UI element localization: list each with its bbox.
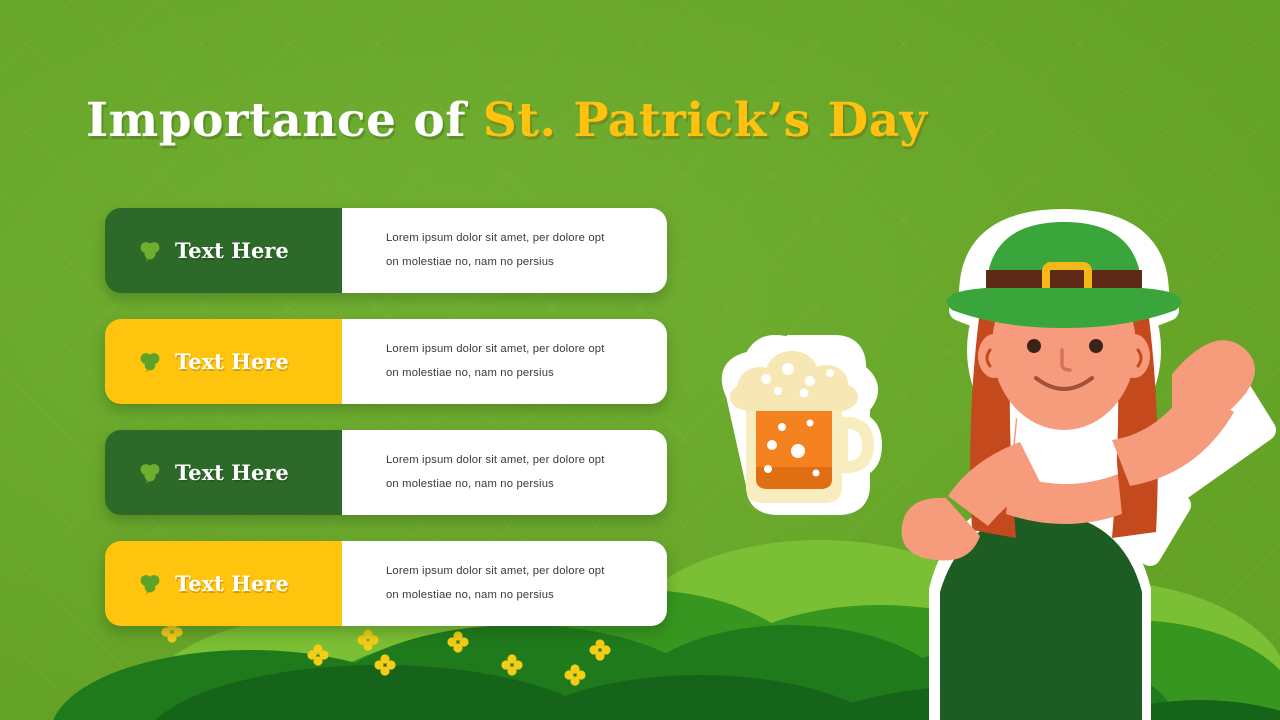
- content-row-line2: on molestiae no, nam no persius: [386, 251, 645, 275]
- slide-root: Importance of St. Patrick’s Day Text Her…: [0, 0, 1280, 720]
- content-row-body: Lorem ipsum dolor sit amet, per dolore o…: [342, 541, 667, 626]
- content-row-line1: Lorem ipsum dolor sit amet, per dolore o…: [386, 338, 645, 362]
- content-row-label: Text Here: [175, 571, 289, 596]
- content-row-header[interactable]: Text Here: [105, 541, 342, 626]
- title-part-accent: St. Patrick’s Day: [483, 93, 928, 148]
- title-part-primary: Importance of: [86, 93, 483, 148]
- content-row-body: Lorem ipsum dolor sit amet, per dolore o…: [342, 208, 667, 293]
- content-row-header[interactable]: Text Here: [105, 430, 342, 515]
- content-row-header[interactable]: Text Here: [105, 319, 342, 404]
- content-row-list: Text Here Lorem ipsum dolor sit amet, pe…: [105, 208, 667, 652]
- ear-left: [978, 334, 1010, 378]
- shamrock-icon: [138, 240, 162, 262]
- shamrock-icon: [138, 462, 162, 484]
- eye-left: [1027, 339, 1041, 353]
- content-row[interactable]: Text Here Lorem ipsum dolor sit amet, pe…: [105, 208, 667, 293]
- content-row-label: Text Here: [175, 349, 289, 374]
- content-row-line1: Lorem ipsum dolor sit amet, per dolore o…: [386, 449, 645, 473]
- content-row-line2: on molestiae no, nam no persius: [386, 473, 645, 497]
- content-row[interactable]: Text Here Lorem ipsum dolor sit amet, pe…: [105, 541, 667, 626]
- content-row-line1: Lorem ipsum dolor sit amet, per dolore o…: [386, 560, 645, 584]
- content-row-body: Lorem ipsum dolor sit amet, per dolore o…: [342, 430, 667, 515]
- content-row-header[interactable]: Text Here: [105, 208, 342, 293]
- content-row-body: Lorem ipsum dolor sit amet, per dolore o…: [342, 319, 667, 404]
- content-row-line2: on molestiae no, nam no persius: [386, 362, 645, 386]
- page-title: Importance of St. Patrick’s Day: [86, 93, 927, 148]
- content-row[interactable]: Text Here Lorem ipsum dolor sit amet, pe…: [105, 319, 667, 404]
- content-row-label: Text Here: [175, 238, 289, 263]
- ear-right: [1118, 334, 1150, 378]
- shamrock-icon: [138, 573, 162, 595]
- content-row-line2: on molestiae no, nam no persius: [386, 584, 645, 608]
- content-row-label: Text Here: [175, 460, 289, 485]
- beer-mug-illustration: [700, 335, 890, 525]
- eye-right: [1089, 339, 1103, 353]
- content-row[interactable]: Text Here Lorem ipsum dolor sit amet, pe…: [105, 430, 667, 515]
- shamrock-icon: [138, 351, 162, 373]
- content-row-line1: Lorem ipsum dolor sit amet, per dolore o…: [386, 227, 645, 251]
